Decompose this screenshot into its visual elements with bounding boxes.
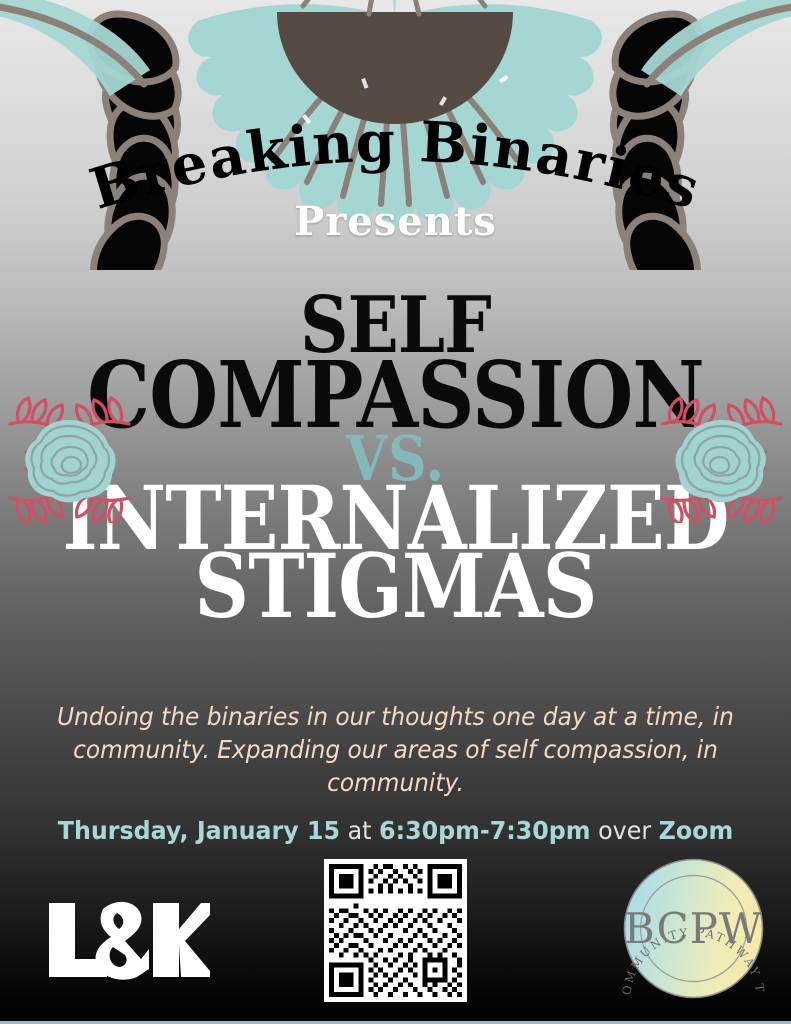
- footer-logo-row: L&K: [0, 854, 791, 1024]
- event-description: Undoing the binaries in our thoughts one…: [56, 700, 736, 799]
- qr-code[interactable]: [324, 859, 467, 1002]
- event-time: 6:30pm-7:30pm: [379, 816, 591, 845]
- connector-at: at: [348, 816, 372, 845]
- teal-flower: [185, 0, 604, 227]
- floral-ornament-right: [644, 388, 791, 523]
- bcpw-seal-center-text: BCPW: [624, 904, 763, 953]
- presents-label: Presents: [0, 198, 791, 245]
- teal-rose: [675, 420, 765, 502]
- event-platform: Zoom: [659, 816, 734, 845]
- title-line-stigmas: STIGMAS: [55, 548, 735, 625]
- connector-over: over: [598, 816, 651, 845]
- event-date: Thursday, January 15: [58, 816, 340, 845]
- event-when-line: Thursday, January 15 at 6:30pm-7:30pm ov…: [20, 816, 771, 845]
- floral-ornament-left: [0, 388, 147, 523]
- lk-logo: L&K: [45, 897, 210, 982]
- event-poster: Breaking Binaries Presents SELF COMPASSI…: [0, 0, 791, 1024]
- teal-rose: [25, 420, 115, 502]
- qr-code-image[interactable]: [324, 859, 467, 1002]
- bcpw-seal-logo: BROOKLYN COMMUNITY PATHWAY TO WELLNESS B…: [616, 851, 771, 1006]
